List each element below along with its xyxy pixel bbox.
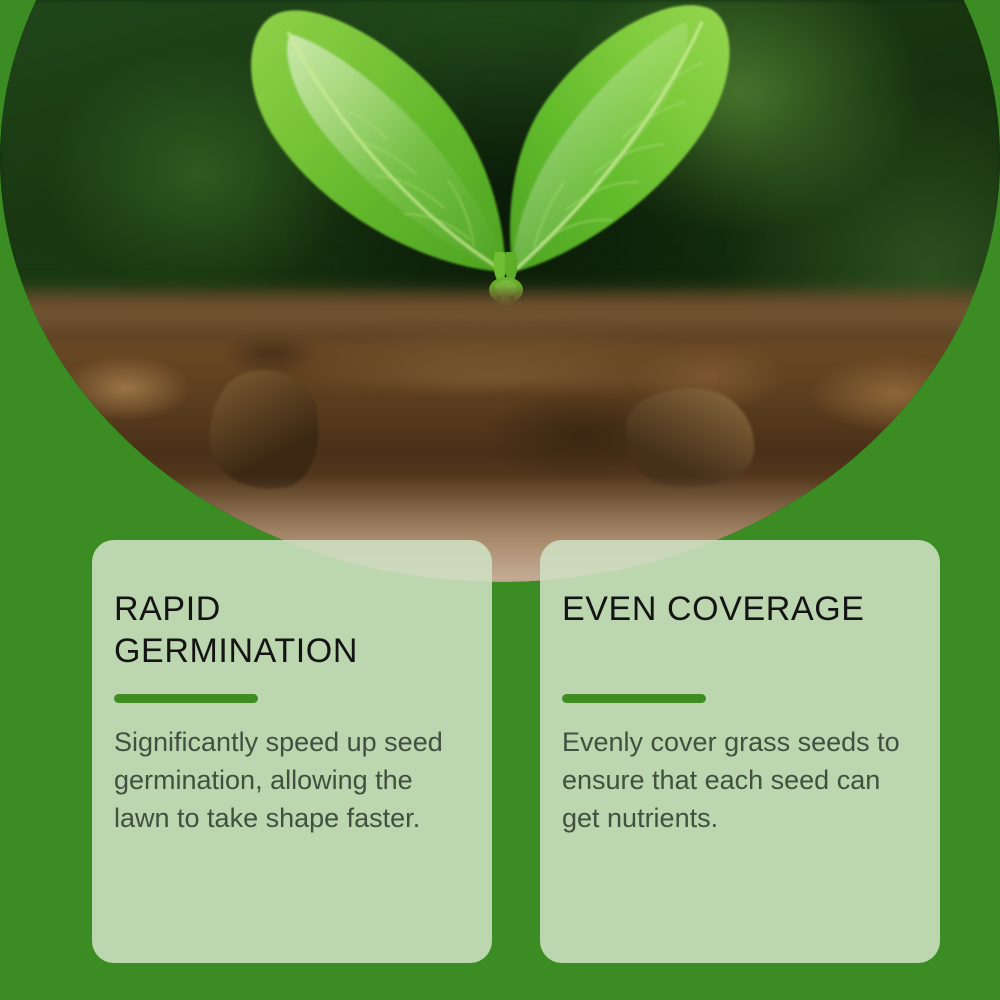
- feature-card-list: RAPID GERMINATION Significantly speed up…: [92, 540, 940, 963]
- feature-card-even-coverage: EVEN COVERAGE Evenly cover grass seeds t…: [540, 540, 940, 963]
- feature-card-rapid-germination: RAPID GERMINATION Significantly speed up…: [92, 540, 492, 963]
- card-body-rapid-germination: Significantly speed up seed germination,…: [114, 723, 466, 837]
- benefits-poster: RAPID GERMINATION Significantly speed up…: [0, 0, 1000, 1000]
- accent-bar-even-coverage: [562, 694, 706, 703]
- grass-seedling-photo: [0, 0, 1000, 582]
- card-title-rapid-germination: RAPID GERMINATION: [114, 588, 466, 672]
- accent-bar-rapid-germination: [114, 694, 258, 703]
- card-title-even-coverage: EVEN COVERAGE: [562, 588, 914, 630]
- card-body-even-coverage: Evenly cover grass seeds to ensure that …: [562, 723, 914, 837]
- soil-bed: [0, 286, 1000, 582]
- hero-circle-mask: [0, 0, 1000, 582]
